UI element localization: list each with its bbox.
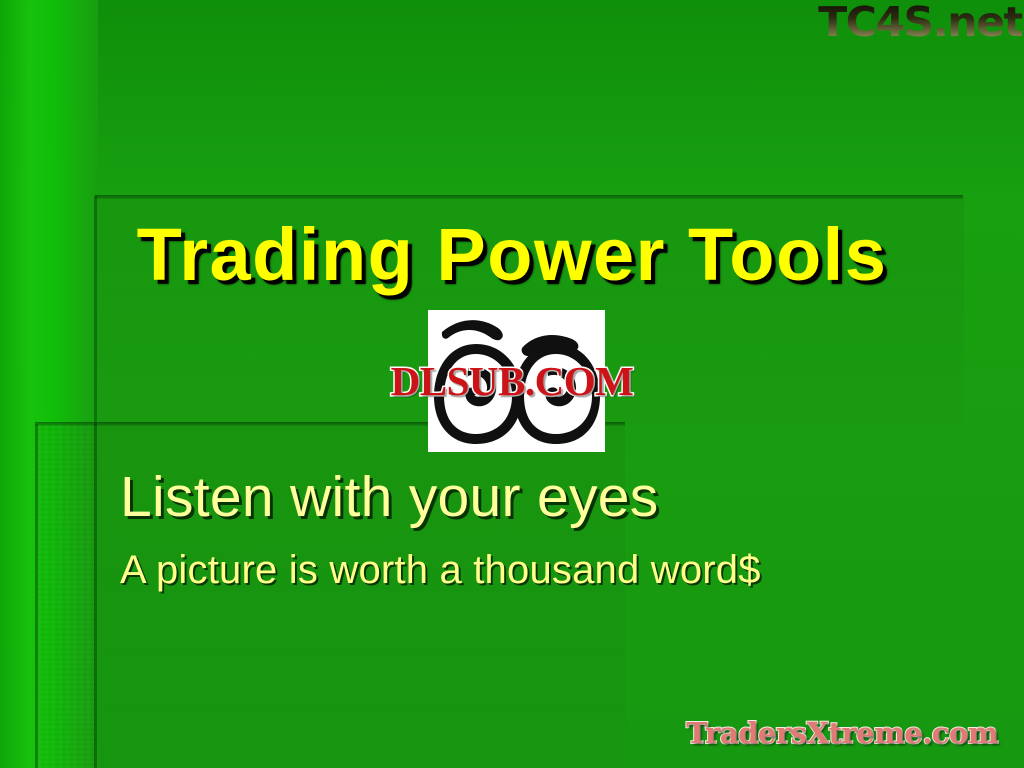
- slide-title: Trading Power Tools: [0, 216, 1024, 294]
- upper-panel-top-rule: [95, 195, 963, 199]
- presentation-slide: Trading Power Tools DLSUB.COM Listen wit…: [0, 0, 1024, 768]
- tc4s-watermark: TC4S.net: [818, 0, 1022, 46]
- slide-subtitle-text: A picture is worth a thousand word$: [120, 548, 761, 593]
- lower-panel-left-rule: [35, 424, 38, 768]
- lower-panel-inner-rule: [94, 424, 97, 768]
- slide-lead-text: Listen with your eyes: [120, 464, 659, 530]
- dlsub-watermark: DLSUB.COM: [0, 357, 1024, 405]
- dlsub-watermark-text: DLSUB.COM: [391, 358, 634, 404]
- lower-panel-texture-column: [38, 424, 94, 768]
- tradersxtreme-watermark: TradersXtreme.com: [686, 716, 998, 750]
